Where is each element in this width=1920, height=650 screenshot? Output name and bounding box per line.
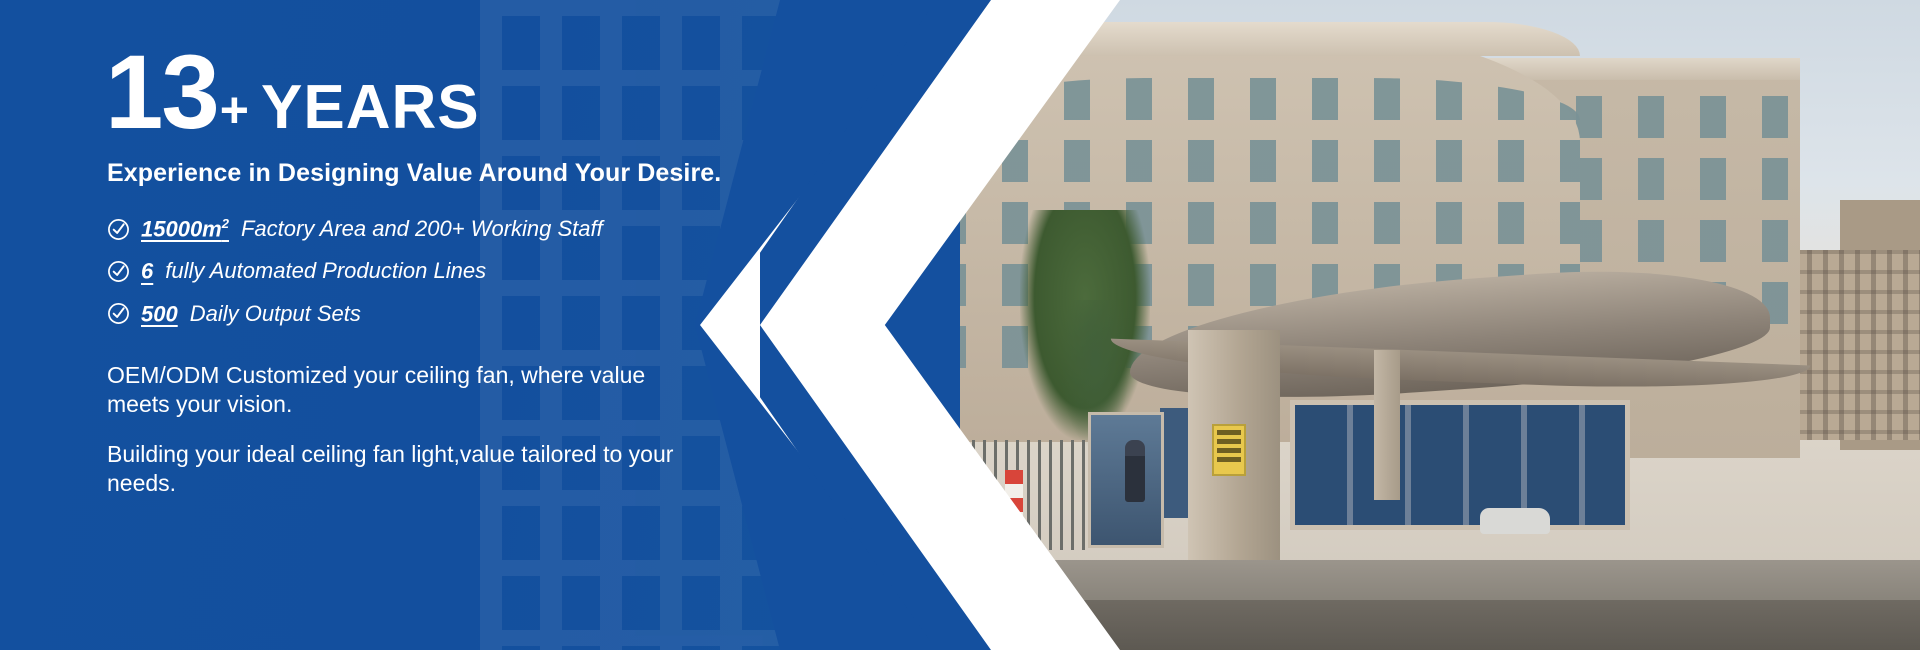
building-photo: [960, 0, 1920, 650]
highlight-label: Factory Area and 200+ Working Staff: [241, 216, 603, 242]
highlight-value-text: 6: [141, 259, 153, 284]
highlight-value-text: 15000m: [141, 216, 222, 241]
highlight-label: Daily Output Sets: [190, 301, 361, 327]
highlights-list: 15000m2 Factory Area and 200+ Working St…: [107, 216, 865, 327]
check-circle-icon: [107, 218, 130, 241]
parked-vehicle: [1480, 508, 1550, 534]
support-column: [1374, 350, 1400, 500]
check-circle-icon: [107, 260, 130, 283]
description-paragraph-2: Building your ideal ceiling fan light,va…: [107, 440, 707, 499]
list-item: 15000m2 Factory Area and 200+ Working St…: [107, 216, 865, 242]
highlight-value-text: 500: [141, 301, 178, 326]
highlight-value: 15000m2: [141, 216, 229, 242]
highlight-value: 500: [141, 301, 178, 327]
notice-board: [1212, 424, 1246, 476]
glass-facade: [1290, 400, 1630, 530]
years-unit-label: YEARS: [261, 77, 480, 139]
highlight-value: 6: [141, 258, 153, 284]
list-item: 6 fully Automated Production Lines: [107, 258, 865, 284]
subheadline: Experience in Designing Value Around You…: [107, 159, 865, 188]
window-band: [960, 140, 1580, 182]
check-circle-icon: [107, 302, 130, 325]
banner-content: 13 + YEARS Experience in Designing Value…: [105, 40, 865, 499]
highlight-value-superscript: 2: [222, 216, 229, 231]
years-number: 13: [105, 40, 218, 145]
company-experience-banner: 13 + YEARS Experience in Designing Value…: [0, 0, 1920, 650]
years-plus-sign: +: [220, 85, 249, 135]
page-title: 13 + YEARS: [105, 40, 865, 145]
list-item: 500 Daily Output Sets: [107, 301, 865, 327]
person-figure: [1125, 440, 1145, 502]
description-paragraph-1: OEM/ODM Customized your ceiling fan, whe…: [107, 361, 707, 420]
highlight-label: fully Automated Production Lines: [165, 258, 486, 284]
